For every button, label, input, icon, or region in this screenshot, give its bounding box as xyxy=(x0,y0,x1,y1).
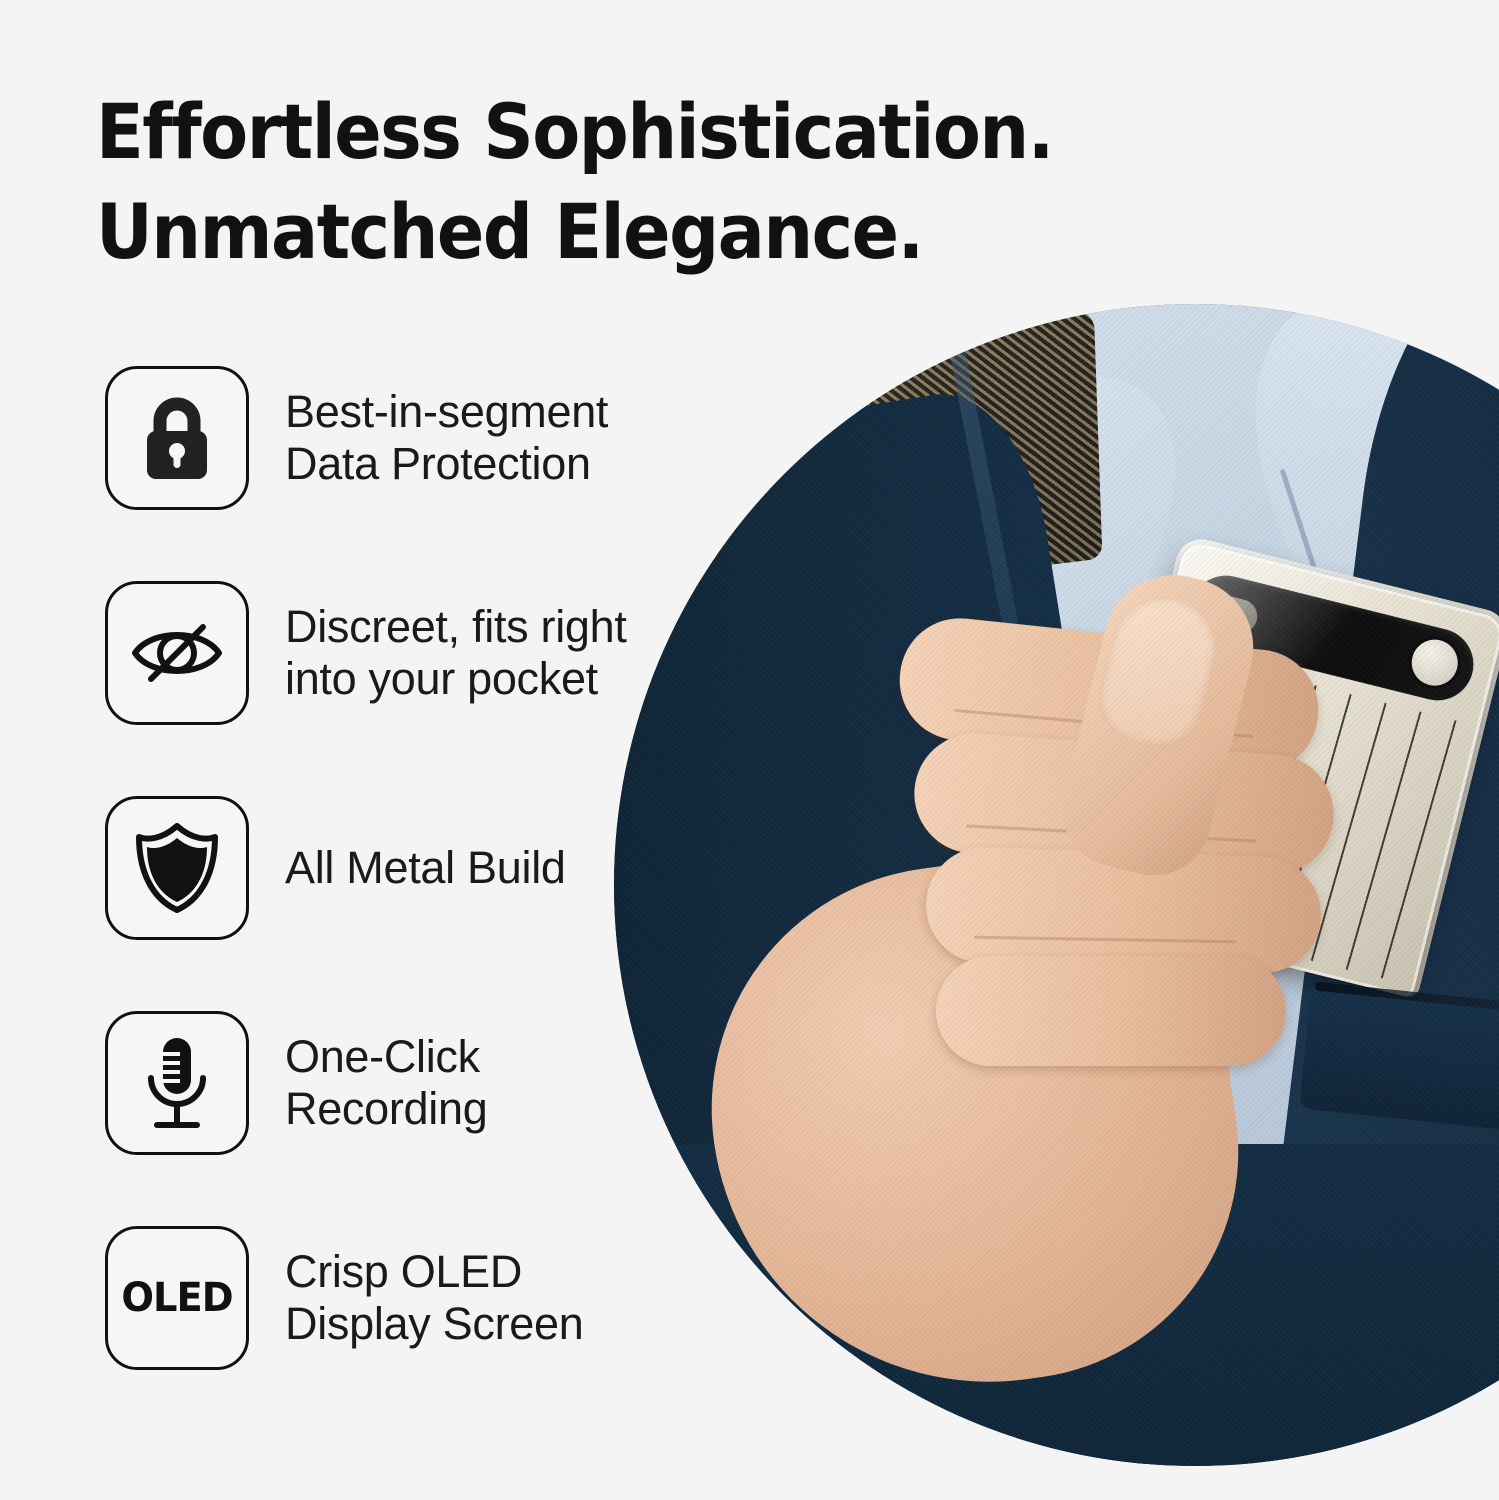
feature-label: All Metal Build xyxy=(285,842,566,894)
feature-item-discreet: Discreet, fits right into your pocket xyxy=(105,578,685,728)
product-lifestyle-photo xyxy=(614,304,1499,1466)
shield-icon xyxy=(105,796,249,940)
feature-item-oled-display: OLED Crisp OLED Display Screen xyxy=(105,1223,685,1373)
product-feature-banner: Effortless Sophistication. Unmatched Ele… xyxy=(0,0,1499,1500)
feature-label: One-Click Recording xyxy=(285,1031,487,1135)
device-record-button xyxy=(1407,635,1463,691)
feature-label: Crisp OLED Display Screen xyxy=(285,1246,583,1350)
microphone-icon xyxy=(105,1011,249,1155)
headline-line-1: Effortless Sophistication. xyxy=(96,82,1163,182)
lock-icon xyxy=(105,366,249,510)
feature-item-recording: One-Click Recording xyxy=(105,1008,685,1158)
headline-line-2: Unmatched Elegance. xyxy=(96,182,1163,282)
oled-badge-text: OLED xyxy=(121,1275,232,1321)
feature-label: Discreet, fits right into your pocket xyxy=(285,601,627,705)
page-title: Effortless Sophistication. Unmatched Ele… xyxy=(96,82,1163,282)
oled-badge-icon: OLED xyxy=(105,1226,249,1370)
feature-item-data-protection: Best-in-segment Data Protection xyxy=(105,363,685,513)
feature-item-metal-build: All Metal Build xyxy=(105,793,685,943)
eye-slash-icon xyxy=(105,581,249,725)
feature-list: Best-in-segment Data Protection Discreet… xyxy=(105,363,685,1373)
little-finger xyxy=(936,956,1286,1066)
feature-label: Best-in-segment Data Protection xyxy=(285,386,608,490)
